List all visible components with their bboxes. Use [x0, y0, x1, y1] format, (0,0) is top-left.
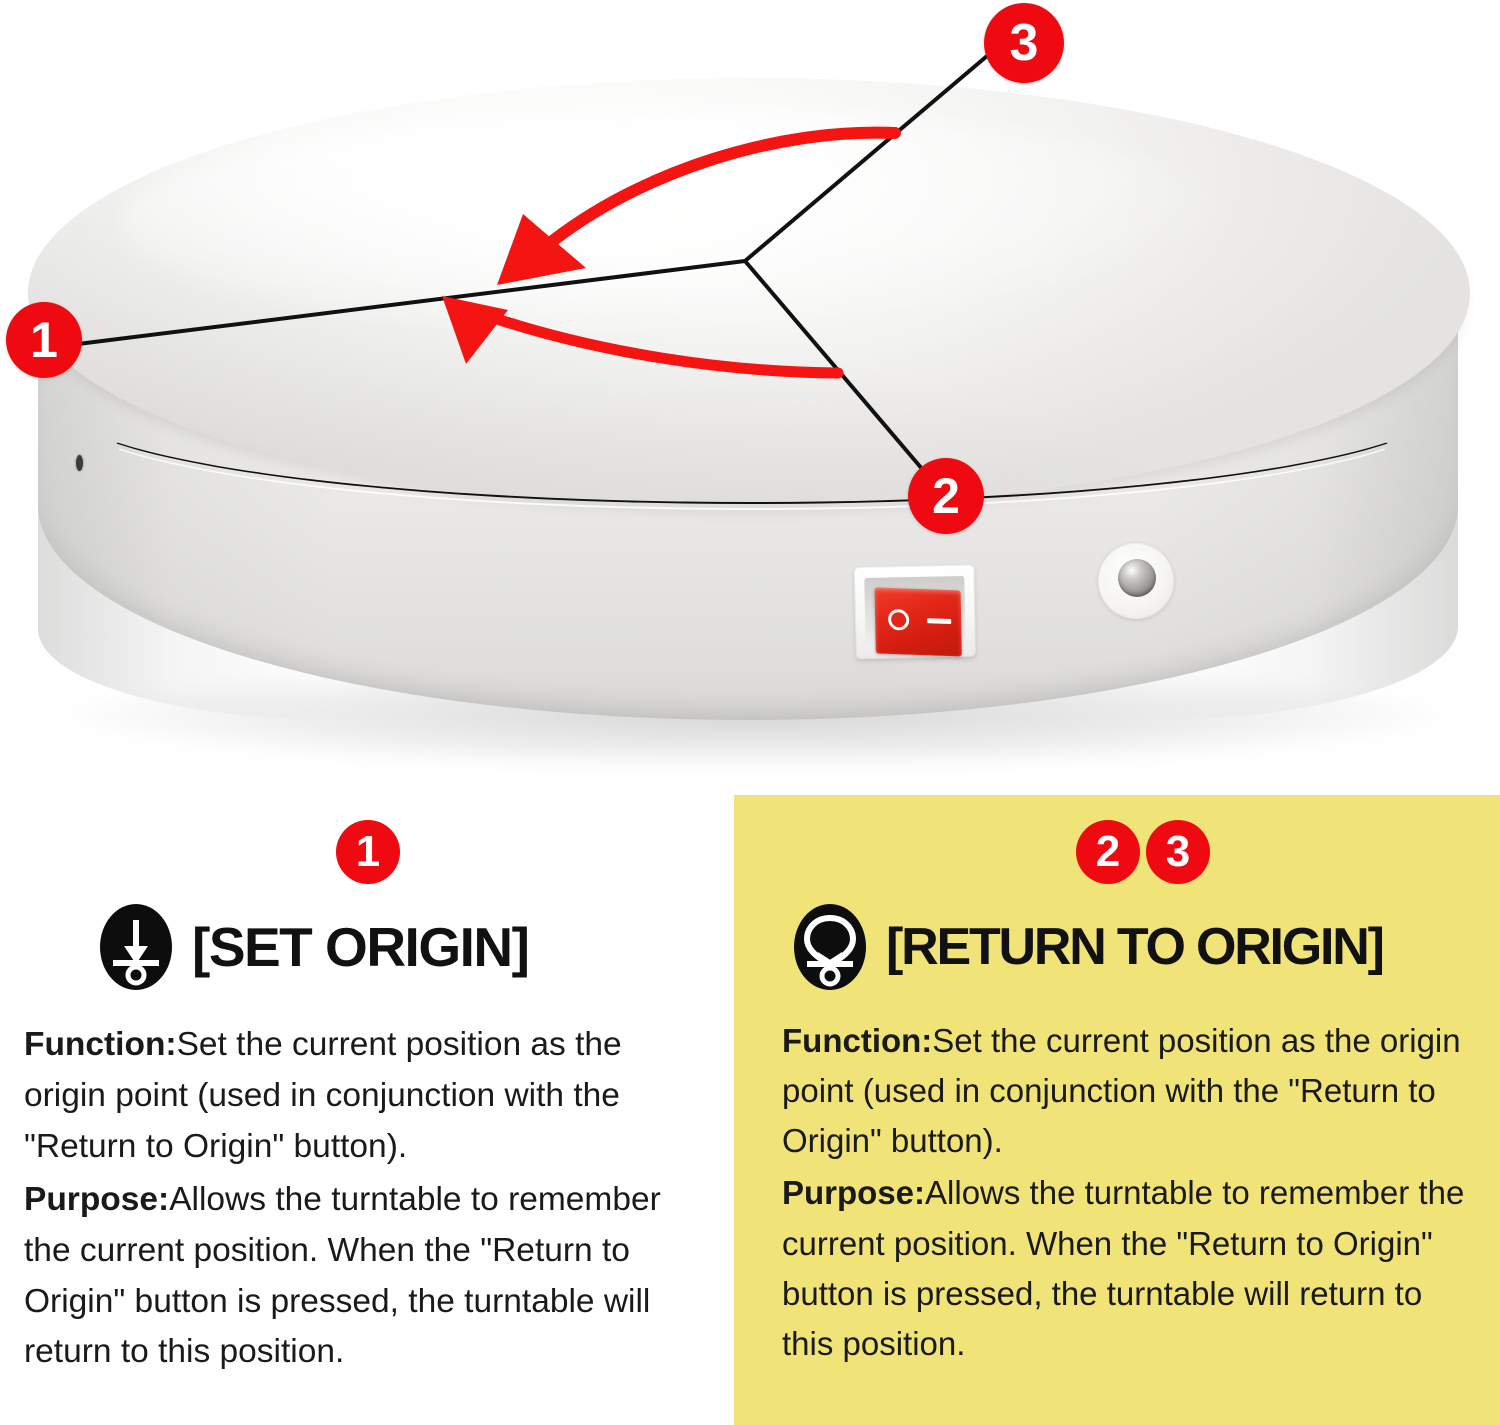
panel-set-origin: 1 [SET ORIGIN] Function:Set the current … [0, 790, 734, 1425]
product-photo: 1 2 3 [0, 0, 1500, 790]
switch-rocker-cap[interactable] [874, 587, 961, 656]
panel-body-set-origin: Function:Set the current position as the… [24, 1020, 700, 1378]
function-label-set-origin: Function: [24, 1026, 177, 1063]
feature-description-section: 1 [SET ORIGIN] Function:Set the current … [0, 790, 1500, 1425]
panel-title-return-to-origin: [RETURN TO ORIGIN] [886, 917, 1383, 977]
callout-badge-2[interactable]: 2 [908, 458, 984, 534]
panel-badge-row-set-origin: 1 [24, 820, 700, 894]
dc-jack-barrel-icon [1118, 559, 1156, 597]
function-paragraph-return-origin: Function:Set the current position as the… [782, 1016, 1466, 1166]
panel-return-to-origin: 2 3 [RETURN TO ORIGIN] Function:Set the … [734, 795, 1500, 1425]
power-off-symbol-icon [888, 609, 909, 631]
panel-badge-2: 2 [1076, 820, 1140, 884]
function-label-return-origin: Function: [782, 1022, 932, 1059]
top-plate-gloss-highlight [120, 108, 1240, 338]
switch-well [864, 576, 965, 648]
purpose-label-set-origin: Purpose: [24, 1181, 169, 1218]
panel-title-row-set-origin: [SET ORIGIN] [24, 904, 700, 990]
power-on-symbol-icon [927, 618, 951, 624]
rocker-power-switch[interactable] [854, 565, 976, 659]
panel-title-row-return-origin: [RETURN TO ORIGIN] [782, 904, 1466, 990]
base-vent-hole [76, 455, 83, 471]
panel-title-set-origin: [SET ORIGIN] [192, 915, 528, 979]
callout-badge-1[interactable]: 1 [6, 302, 82, 378]
set-origin-icon [100, 904, 172, 990]
purpose-label-return-origin: Purpose: [782, 1174, 925, 1211]
callout-badge-3[interactable]: 3 [984, 3, 1064, 83]
purpose-paragraph-set-origin: Purpose:Allows the turntable to remember… [24, 1175, 700, 1379]
function-paragraph-set-origin: Function:Set the current position as the… [24, 1020, 700, 1173]
return-to-origin-icon [794, 904, 866, 990]
dc-power-jack[interactable] [1098, 543, 1174, 619]
panel-badge-1: 1 [336, 820, 400, 884]
panel-body-return-origin: Function:Set the current position as the… [782, 1016, 1466, 1369]
purpose-paragraph-return-origin: Purpose:Allows the turntable to remember… [782, 1168, 1466, 1369]
panel-badge-row-return-origin: 2 3 [782, 820, 1466, 894]
panel-badge-3: 3 [1146, 820, 1210, 884]
